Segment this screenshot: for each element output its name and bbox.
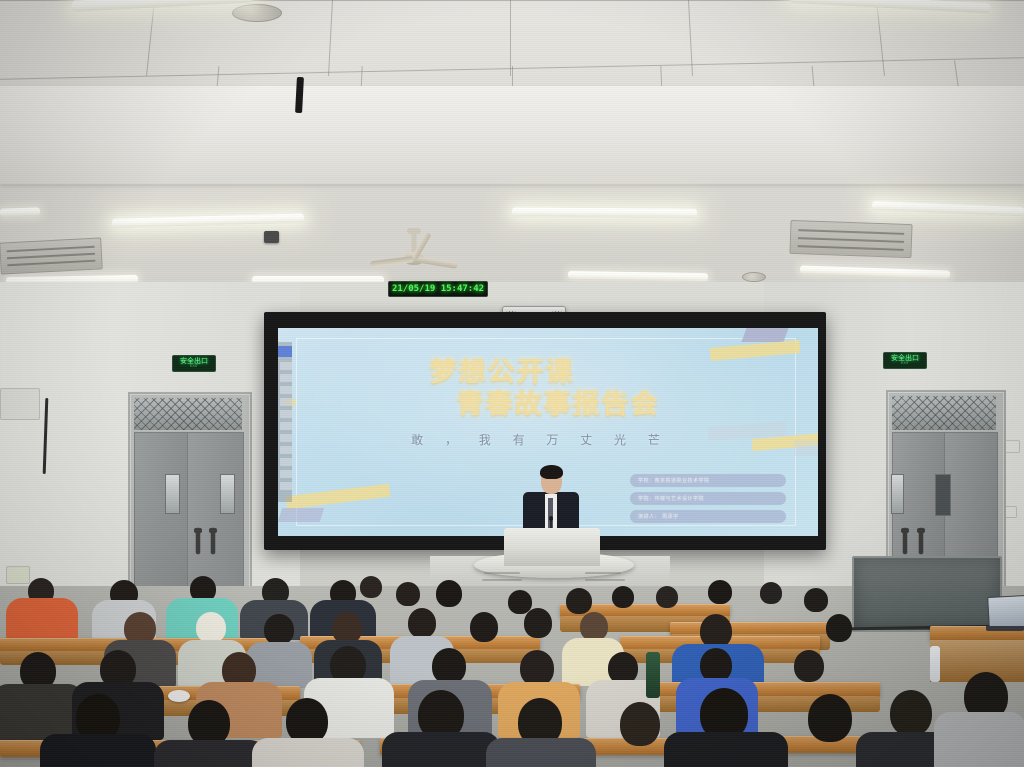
water-bottle — [930, 646, 940, 682]
sidebar-icon[interactable] — [280, 470, 292, 478]
podium-body — [504, 528, 600, 566]
slide-info-pill-college: 学院：传媒与艺术设计学院 — [630, 492, 786, 505]
ceiling — [0, 0, 1024, 300]
ceiling-fan — [372, 228, 456, 274]
audience-head — [700, 614, 732, 648]
audience-head — [620, 702, 660, 746]
audience-body — [154, 740, 266, 767]
sidebar-selected-item[interactable] — [278, 346, 292, 357]
sidebar-icon[interactable] — [280, 458, 292, 466]
audience-head — [808, 694, 852, 742]
audience-body — [252, 738, 364, 767]
audience-head — [196, 612, 226, 643]
audience-head — [890, 690, 932, 736]
exit-sign-right: 安全出口 EXIT — [883, 352, 927, 369]
slide-title-line1: 梦想公开课 — [278, 358, 772, 388]
slide-decor-purple-top — [741, 328, 788, 342]
audience-head — [826, 614, 852, 642]
lecture-hall-photo: 21/05/19 15:47:42 安全出口 EXIT 安全出口 EXIT — [0, 0, 1024, 767]
audience-head — [794, 650, 824, 682]
audience-head — [432, 648, 466, 684]
thermos-bottle — [646, 652, 660, 698]
audience-head — [656, 586, 678, 608]
door-right-transom — [892, 396, 996, 430]
audience-head — [264, 614, 294, 645]
sidebar-icon[interactable] — [280, 482, 292, 490]
slide-info-pill-presenter: 演讲人： 周泽宇 — [630, 510, 786, 523]
slide-decor-purple-bottom — [278, 508, 324, 522]
slide-title-line2: 青春故事报告会 — [288, 390, 818, 420]
audience-body — [382, 732, 500, 767]
door-left-leaf-b[interactable] — [187, 432, 244, 588]
exit-sign-left-en: EXIT — [190, 365, 198, 369]
sidebar-icon[interactable] — [280, 422, 292, 430]
led-clock-text: 21/05/19 15:47:42 — [392, 284, 484, 294]
exit-sign-right-en: EXIT — [901, 362, 909, 366]
audience-head — [520, 650, 554, 686]
door-left-window-b — [220, 474, 235, 514]
wall-outlet-right — [1004, 440, 1020, 453]
audience-head — [612, 586, 634, 608]
audience-head — [436, 580, 462, 607]
door-left-leaf-a[interactable] — [134, 432, 189, 588]
led-clock: 21/05/19 15:47:42 — [388, 281, 488, 297]
audience-head — [804, 588, 828, 612]
audience-body — [934, 712, 1024, 767]
podium-rib — [585, 579, 625, 581]
podium-rib — [585, 572, 621, 574]
door-right-lattice-grille — [892, 396, 996, 430]
mouse-on-desk[interactable] — [168, 690, 190, 702]
door-right-handle-b[interactable] — [919, 528, 923, 554]
fluorescent-light — [512, 207, 697, 218]
audience-body — [6, 598, 78, 640]
audience-head — [700, 648, 732, 682]
chalkboard — [852, 556, 1002, 632]
audience-body — [664, 732, 788, 767]
audience-body — [486, 738, 596, 767]
door-right-window-b — [935, 474, 951, 516]
ceiling-speaker-icon — [232, 4, 282, 22]
audience-head — [360, 576, 382, 598]
audience-body — [40, 734, 156, 767]
door-right-handle-a[interactable] — [903, 528, 907, 554]
audience-head — [566, 588, 592, 614]
exit-sign-left: 安全出口 EXIT — [172, 355, 216, 372]
audience-head — [470, 612, 498, 642]
door-left-window-a — [165, 474, 180, 514]
audience-head — [524, 608, 552, 638]
audience-head — [408, 608, 436, 638]
audience-head — [760, 582, 782, 604]
podium-rib — [482, 579, 522, 581]
audience-head — [396, 582, 420, 606]
door-left-lattice-grille — [134, 398, 242, 430]
hvac-vent — [789, 220, 912, 258]
fluorescent-light — [0, 207, 40, 216]
audience-head — [708, 580, 732, 604]
ceiling-speaker-icon-2 — [742, 272, 766, 282]
door-left-transom — [134, 398, 242, 430]
door-left-handle-b[interactable] — [211, 528, 215, 554]
ceiling-soffit — [0, 86, 1024, 184]
door-left-handle-a[interactable] — [196, 528, 200, 554]
podium-microphone-head-icon — [549, 516, 553, 521]
wall-panel-left — [0, 388, 40, 420]
slide-info-pill-school: 学校：南京铁道职业技术学院 — [630, 474, 786, 487]
wall-outlet-left — [6, 566, 30, 584]
hvac-vent — [0, 237, 103, 274]
security-camera-icon — [264, 231, 279, 243]
speaker-hair — [540, 465, 563, 479]
door-right-window-a — [891, 474, 904, 514]
audience-head — [580, 612, 608, 641]
podium-rib — [484, 572, 520, 574]
laptop-base — [986, 626, 1024, 631]
slide-subtitle: 敢 ， 我 有 万 丈 光 芒 — [278, 432, 810, 448]
